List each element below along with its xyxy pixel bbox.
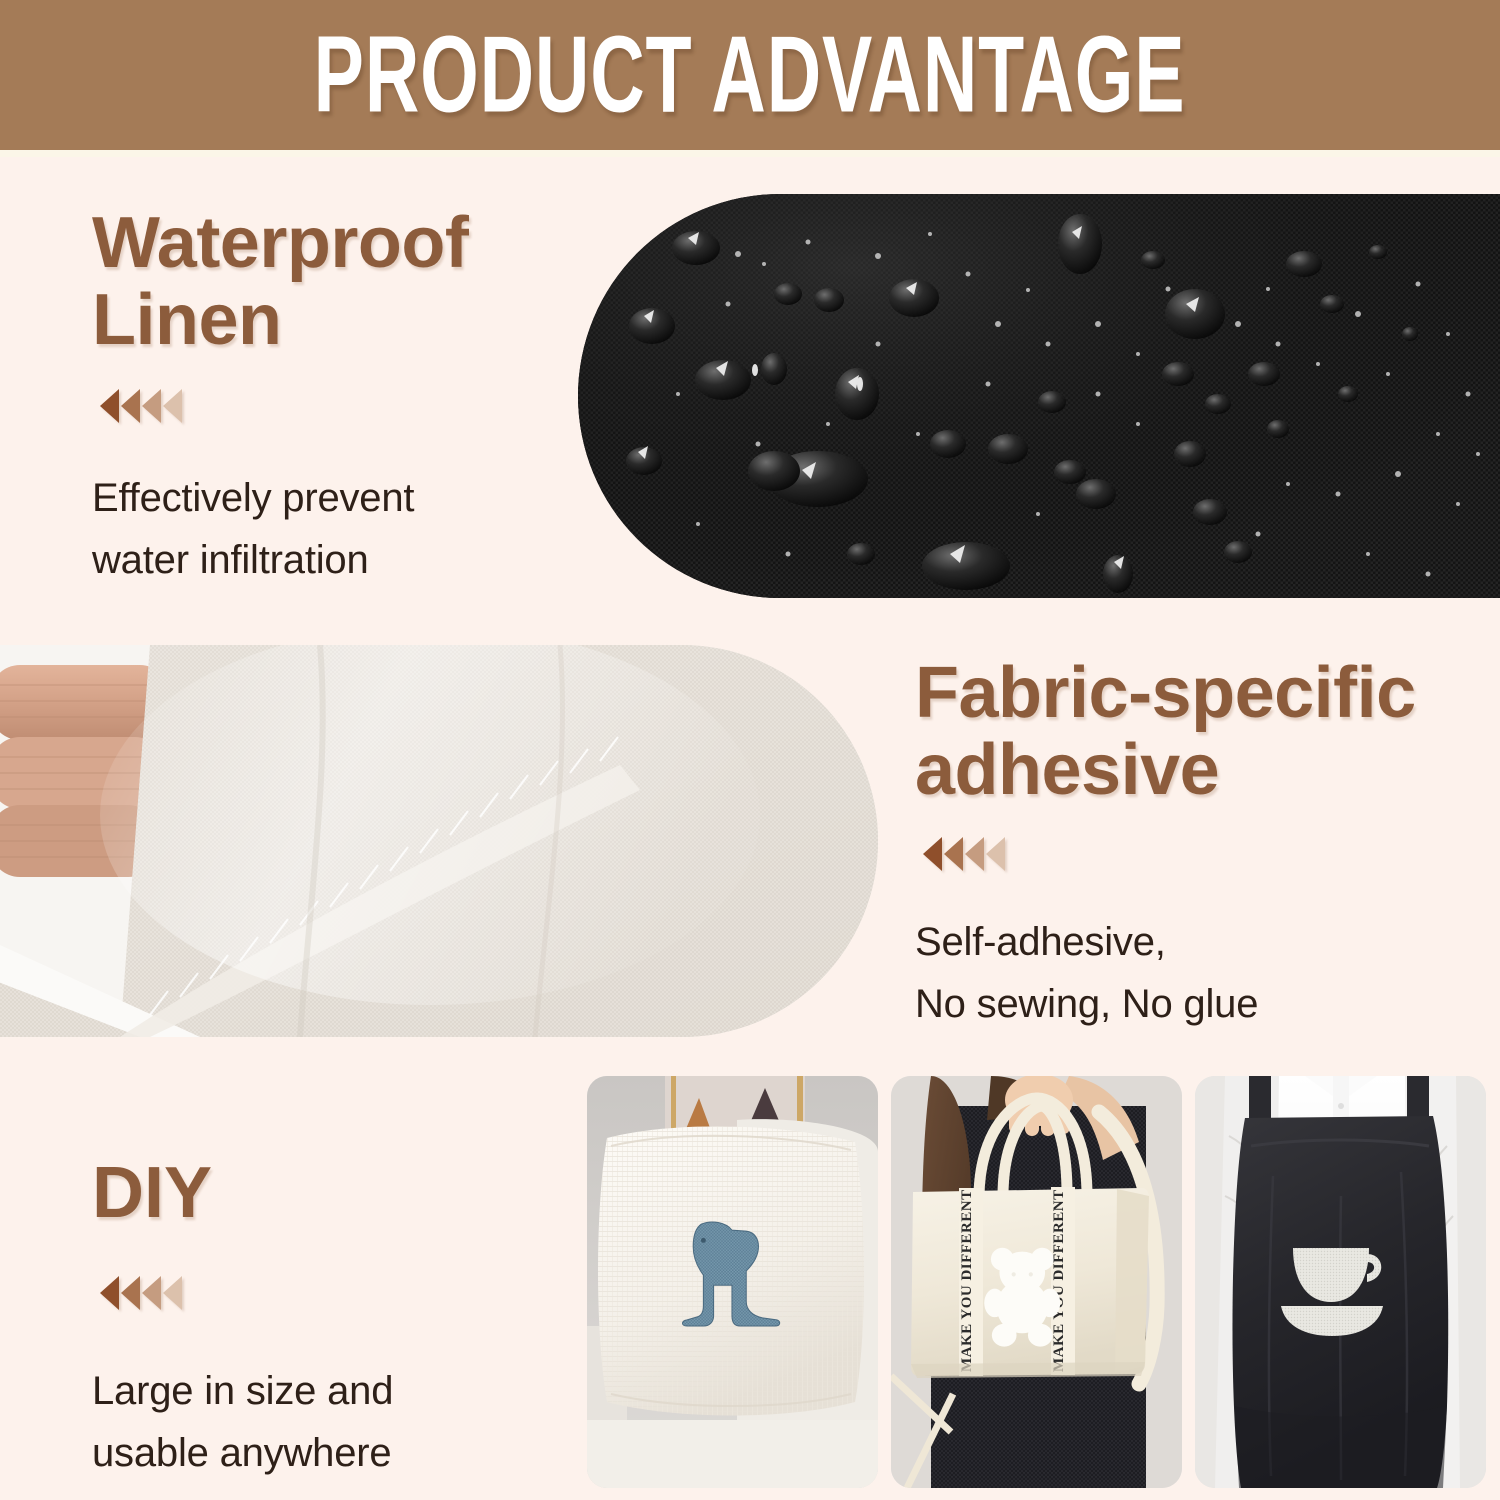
tote-strap-text-left: MAKE YOU DIFFERENT: [959, 1189, 975, 1372]
section-adhesive-subtext: Self-adhesive, No sewing, No glue: [915, 911, 1475, 1035]
photo-apron: [1195, 1076, 1486, 1488]
section-waterproof-heading: Waterproof Linen: [92, 205, 562, 359]
waterproof-fabric-image: [578, 194, 1500, 598]
header-banner: PRODUCT ADVANTAGE: [0, 0, 1500, 150]
section-waterproof-text: Waterproof Linen Effectively prevent wat…: [92, 205, 562, 591]
fabric-adhesive-image: [0, 645, 878, 1037]
section-diy-heading: DIY: [92, 1155, 562, 1232]
chevron-left-icon: [100, 1276, 562, 1310]
section-waterproof-subtext-line1: Effectively prevent: [92, 467, 562, 529]
diy-photo-row: MAKE YOU DIFFERENT MAKE YOU DIFFERENT: [587, 1076, 1487, 1488]
banner-underline: [0, 150, 1500, 157]
section-adhesive-subtext-line2: No sewing, No glue: [915, 973, 1475, 1035]
tote-strap-text-right: MAKE YOU DIFFERENT: [1051, 1189, 1067, 1372]
section-diy-subtext-line2: usable anywhere: [92, 1422, 562, 1484]
section-waterproof-subtext-line2: water infiltration: [92, 529, 562, 591]
section-diy-subtext-line1: Large in size and: [92, 1360, 562, 1422]
section-waterproof-subtext: Effectively prevent water infiltration: [92, 467, 562, 591]
photo-tote-bag: MAKE YOU DIFFERENT MAKE YOU DIFFERENT: [891, 1076, 1182, 1488]
section-diy-text: DIY Large in size and usable anywhere: [92, 1155, 562, 1484]
page-title: PRODUCT ADVANTAGE: [314, 13, 1186, 137]
section-adhesive-subtext-line1: Self-adhesive,: [915, 911, 1475, 973]
section-adhesive-text: Fabric-specific adhesive Self-adhesive, …: [915, 655, 1475, 1035]
section-diy-subtext: Large in size and usable anywhere: [92, 1360, 562, 1484]
chevron-left-icon: [923, 837, 1475, 871]
photo-pillow: [587, 1076, 878, 1488]
chevron-left-icon: [100, 389, 562, 423]
section-adhesive-heading: Fabric-specific adhesive: [915, 655, 1475, 809]
